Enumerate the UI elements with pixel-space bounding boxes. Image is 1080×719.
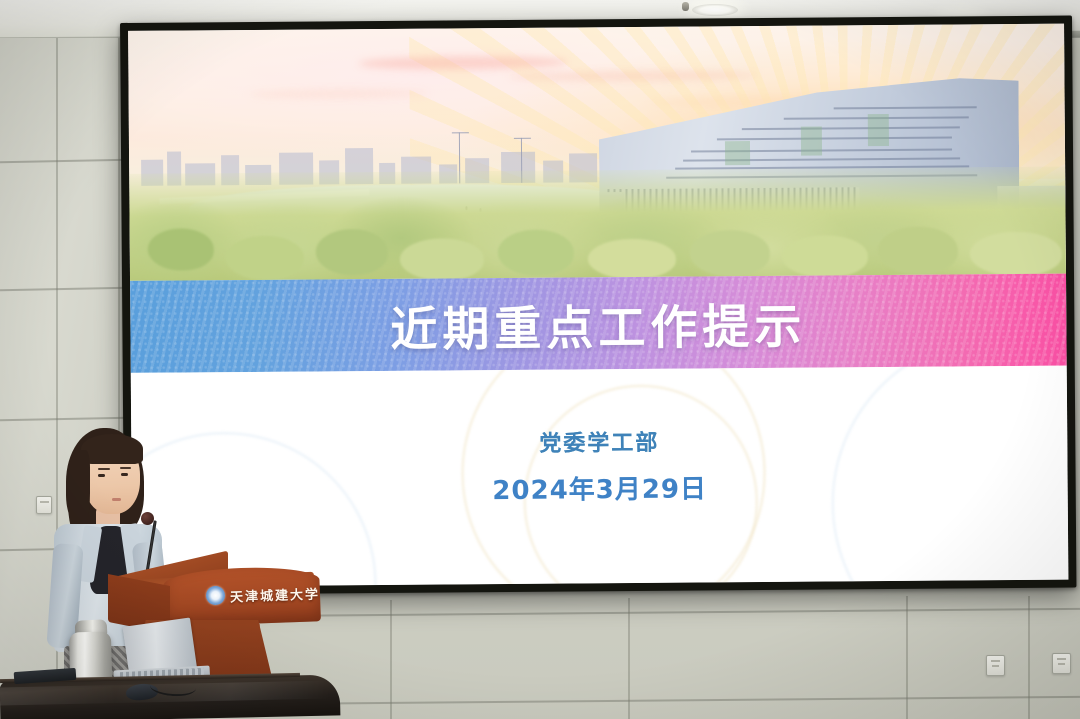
tree <box>498 229 574 276</box>
lectern-university-name: 天津城建大学 <box>230 583 321 605</box>
tree <box>316 229 388 276</box>
slide-title-band: 近期重点工作提示 <box>130 274 1067 373</box>
ceiling-downlight <box>692 4 738 16</box>
mouth <box>112 498 121 501</box>
tree <box>878 226 958 275</box>
microphone-head-icon <box>141 512 154 525</box>
slide-canvas: 近期重点工作提示 党委学工部 2024年3月29日 <box>128 24 1068 587</box>
wall-seam <box>906 596 908 719</box>
eye <box>121 473 128 476</box>
tree <box>690 230 770 277</box>
tree <box>782 235 868 278</box>
wall-seam <box>390 600 392 719</box>
eye <box>98 474 105 477</box>
led-display-screen: 近期重点工作提示 党委学工部 2024年3月29日 <box>120 16 1076 595</box>
university-emblem-icon <box>206 586 225 605</box>
tree <box>226 236 304 281</box>
wall-outlet[interactable] <box>986 655 1005 676</box>
eyebrow <box>98 468 110 470</box>
wall-outlet[interactable] <box>1052 653 1071 674</box>
slide-lower-area: 党委学工部 2024年3月29日 <box>131 366 1069 587</box>
tree <box>400 238 484 281</box>
hair-fringe <box>81 434 143 464</box>
tree <box>148 228 214 271</box>
presentation-room-photo: 近期重点工作提示 党委学工部 2024年3月29日 <box>0 0 1080 719</box>
wall-seam <box>628 598 630 719</box>
tree <box>970 232 1062 277</box>
slide-title: 近期重点工作提示 <box>130 274 1067 373</box>
slide-photo-campus <box>128 24 1066 281</box>
slide-date: 2024年3月29日 <box>132 466 1068 510</box>
wall-seam <box>1028 596 1030 719</box>
sprinkler-head-icon <box>682 2 689 11</box>
eyebrow <box>120 467 131 469</box>
tree <box>588 239 676 280</box>
